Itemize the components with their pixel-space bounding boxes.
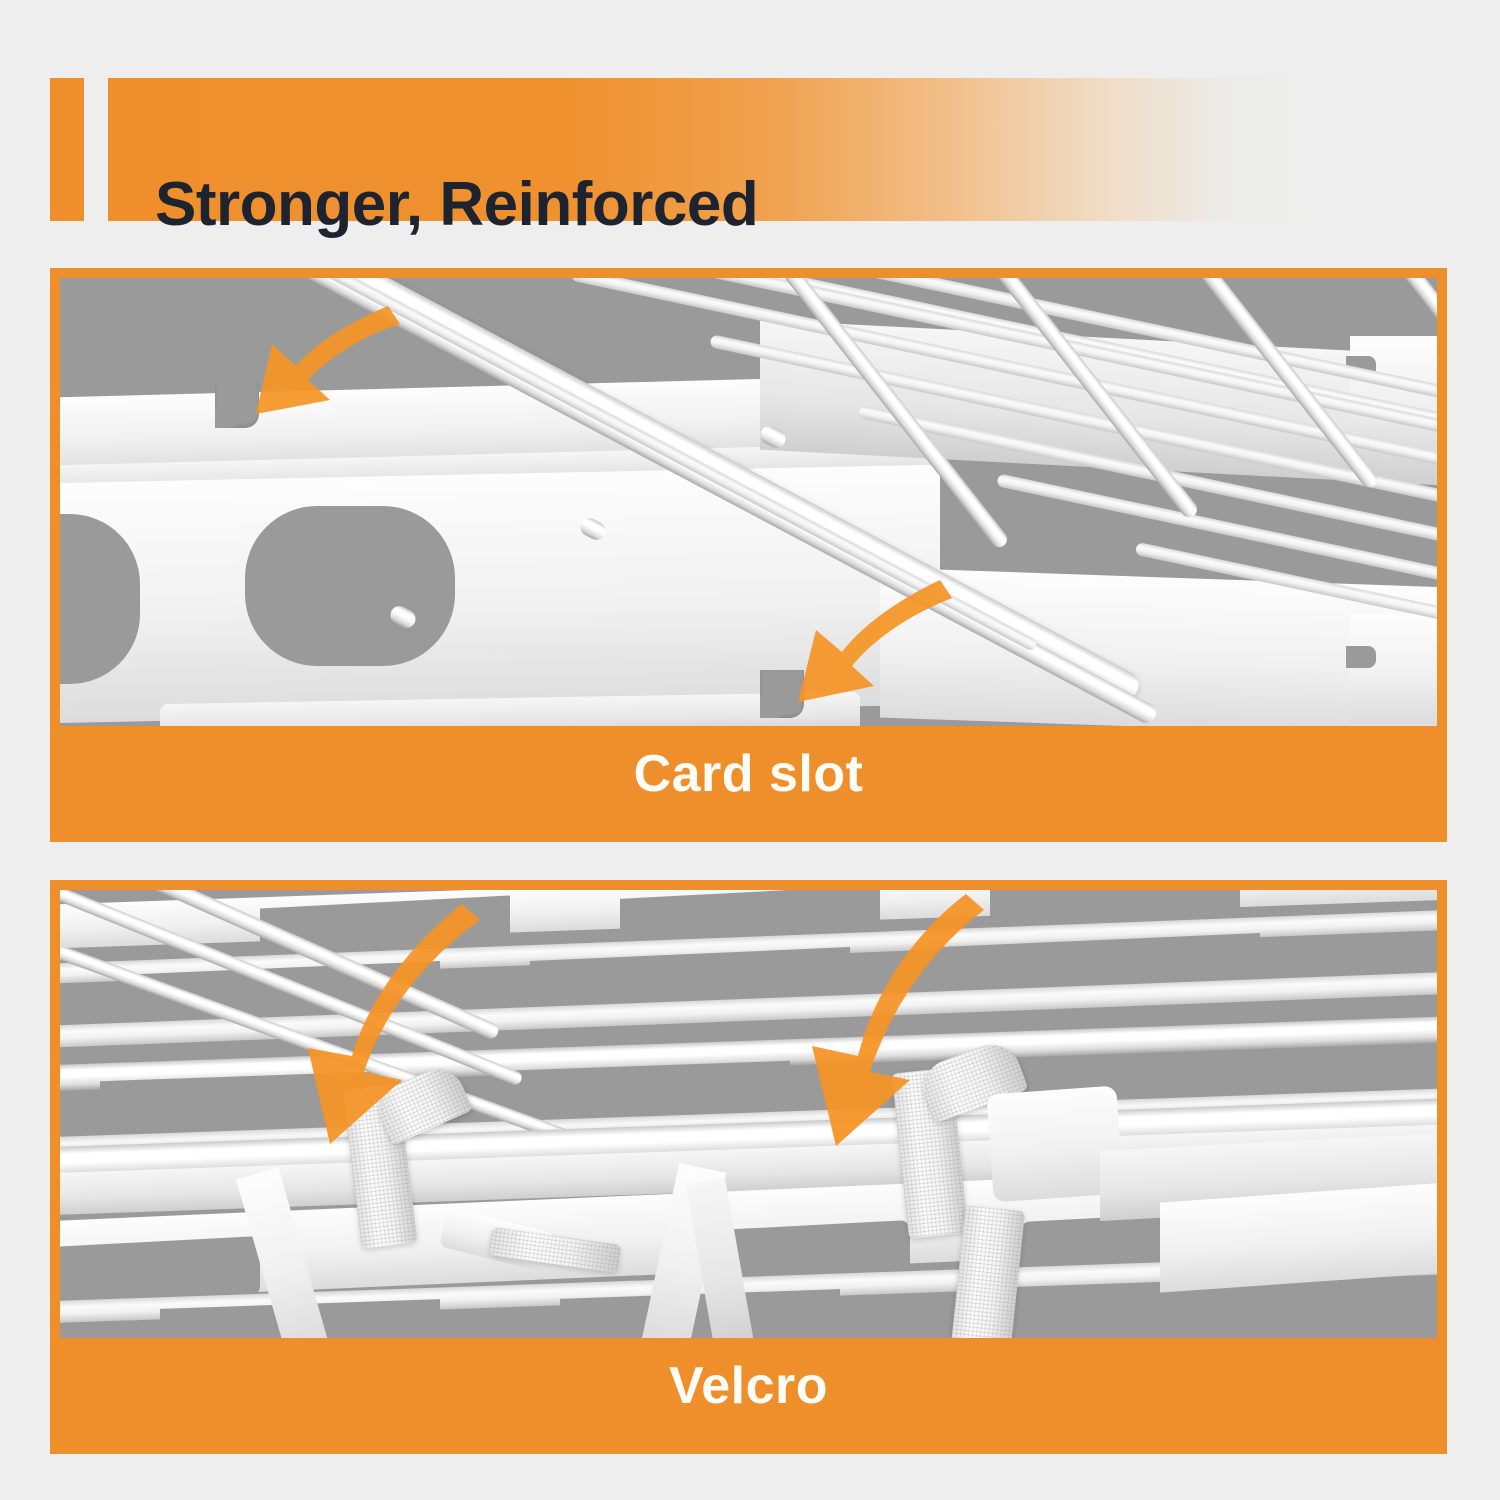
caption-velcro: Velcro — [60, 1338, 1437, 1434]
wire-rack-scene — [60, 278, 1437, 726]
caption-label: Card slot — [634, 748, 864, 800]
velcro-rack-scene — [60, 890, 1437, 1338]
edge-notch-bottom — [1346, 646, 1376, 668]
photo-card-slot — [60, 278, 1437, 726]
lower-gap-5 — [560, 1289, 840, 1338]
pointer-arrow-1 — [266, 898, 496, 1158]
pointer-arrow-1 — [210, 296, 410, 436]
feature-panel-card-slot: Card slot — [50, 268, 1447, 842]
photo-velcro — [60, 890, 1437, 1338]
pointer-arrow-2 — [750, 572, 960, 722]
feature-panel-velcro: Velcro — [50, 880, 1447, 1454]
edge-bracket-bottom — [1350, 614, 1437, 724]
bracket-cutout-2 — [245, 506, 455, 666]
pointer-arrow-2 — [766, 890, 996, 1160]
header-banner: Stronger, Reinforced — [0, 78, 1500, 221]
page-title: Stronger, Reinforced — [155, 174, 758, 236]
upper-right-gray — [1240, 278, 1437, 340]
caption-card-slot: Card slot — [60, 726, 1437, 822]
caption-label: Velcro — [669, 1360, 828, 1412]
header-accent-bar — [50, 78, 84, 221]
